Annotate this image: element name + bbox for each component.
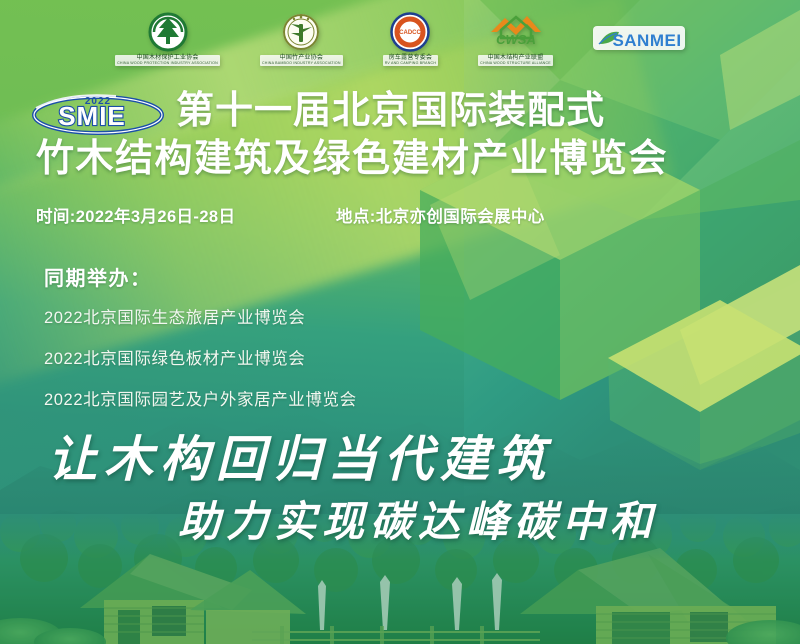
sponsor-logo-3: CWSA 中国木结构产业联盟 CHINA WOOD STRUCTURE ALLI… (478, 12, 553, 66)
sponsor-logo-2-caption: 房车露营专委会 RV AND CAMPING BRANCH (383, 55, 438, 66)
headline-block: 2022 SMIE 第十一届北京国际装配式 竹木结构建筑及绿色建材产业博览会 (0, 88, 800, 180)
slogan-line-2: 助力实现碳达峰碳中和 (178, 488, 658, 549)
svg-text:CWSA: CWSA (496, 32, 536, 47)
bamboo-in-oval-icon (280, 12, 322, 54)
sponsor-logo-0-caption: 中国木材保护工业协会 CHINA WOOD PROTECTION INDUSTR… (115, 55, 220, 66)
concurrent-events-title: 同期举办： (44, 262, 357, 291)
sponsor-logo-4: SANMEI (593, 22, 685, 56)
leaf-sanmei-wordmark-icon: SANMEI (593, 22, 685, 56)
event-venue: 地点:北京亦创国际会展中心 (336, 203, 545, 227)
svg-text:SANMEI: SANMEI (612, 31, 681, 50)
smie-brand-icon: 2022 SMIE (30, 90, 166, 136)
sponsor-logo-1: 中国竹产业协会 CHINA BAMBOO INDUSTRY ASSOCIATIO… (260, 12, 343, 66)
house-roof-cwsa-icon: CWSA (485, 12, 547, 54)
headline-line-1: 第十一届北京国际装配式 (176, 92, 605, 132)
sponsor-logo-0: 中国木材保护工业协会 CHINA WOOD PROTECTION INDUSTR… (115, 12, 220, 66)
event-meta-row: 时间:2022年3月26日-28日 地点:北京亦创国际会展中心 (36, 203, 780, 227)
tree-in-circle-icon (146, 12, 190, 54)
svg-text:CADCC: CADCC (400, 30, 422, 36)
slogan-line-1: 让木构回归当代建筑 (48, 420, 552, 491)
concurrent-event-item-0: 2022北京国际生态旅居产业博览会 (44, 304, 357, 328)
concurrent-event-item-1: 2022北京国际绿色板材产业博览会 (44, 345, 357, 369)
title-row: 2022 SMIE 第十一届北京国际装配式 (0, 88, 800, 136)
smie-logo: 2022 SMIE (30, 90, 166, 136)
svg-text:SMIE: SMIE (58, 101, 126, 131)
headline-line-2: 竹木结构建筑及绿色建材产业博览会 (0, 140, 800, 180)
concurrent-event-item-2: 2022北京国际园艺及户外家居产业博览会 (44, 386, 357, 410)
sponsor-logo-1-caption: 中国竹产业协会 CHINA BAMBOO INDUSTRY ASSOCIATIO… (260, 55, 343, 66)
sponsor-logo-2: CADCC 房车露营专委会 RV AND CAMPING BRANCH (383, 12, 438, 66)
exhibition-poster: 中国木材保护工业协会 CHINA WOOD PROTECTION INDUSTR… (0, 0, 800, 644)
sponsor-logo-strip: 中国木材保护工业协会 CHINA WOOD PROTECTION INDUSTR… (0, 10, 800, 68)
sponsor-logo-3-caption: 中国木结构产业联盟 CHINA WOOD STRUCTURE ALLIANCE (478, 55, 553, 66)
concurrent-events-block: 同期举办： 2022北京国际生态旅居产业博览会 2022北京国际绿色板材产业博览… (44, 262, 357, 427)
cadcc-roundel-icon: CADCC (388, 12, 432, 54)
event-date: 时间:2022年3月26日-28日 (36, 203, 336, 227)
